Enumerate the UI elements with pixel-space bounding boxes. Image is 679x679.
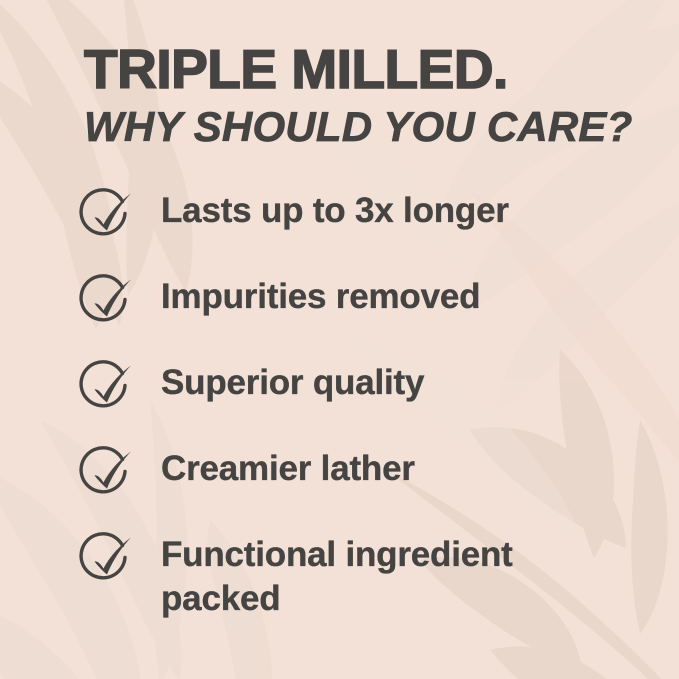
list-item: Functional ingredient packed (78, 532, 638, 618)
benefits-list: Lasts up to 3x longer Impurities removed… (78, 188, 638, 618)
circle-check-icon (78, 360, 140, 420)
circle-check-icon (78, 188, 140, 248)
list-item-label: Lasts up to 3x longer (161, 189, 638, 233)
list-item-label: Functional ingredient packed (161, 533, 638, 621)
list-item-label: Superior quality (161, 361, 638, 405)
product-benefits-poster: TRIPLE MILLED. WHY SHOULD YOU CARE? Last… (0, 0, 679, 679)
list-item-label: Creamier lather (161, 447, 638, 491)
circle-check-icon (78, 274, 140, 334)
list-item: Creamier lather (78, 446, 638, 532)
list-item: Lasts up to 3x longer (78, 188, 638, 274)
list-item: Impurities removed (78, 274, 638, 360)
page-title: TRIPLE MILLED. (84, 42, 508, 97)
circle-check-icon (78, 532, 140, 592)
poster-content: TRIPLE MILLED. WHY SHOULD YOU CARE? Last… (0, 0, 679, 679)
list-item: Superior quality (78, 360, 638, 446)
page-subtitle: WHY SHOULD YOU CARE? (84, 106, 632, 148)
circle-check-icon (78, 446, 140, 506)
list-item-label: Impurities removed (161, 275, 638, 319)
